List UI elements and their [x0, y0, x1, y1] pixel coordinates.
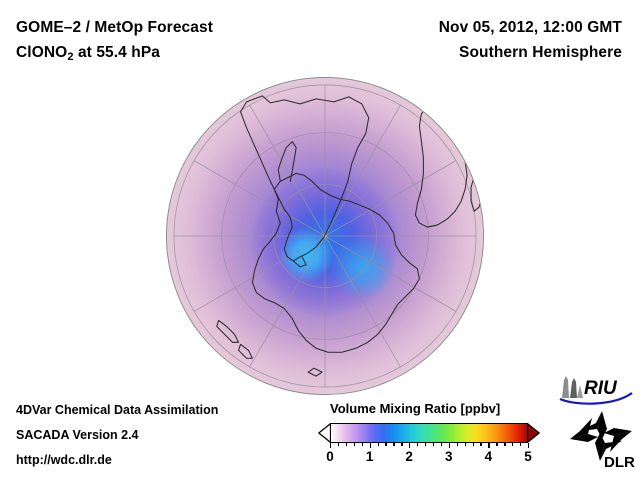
- colorbar-tick-label: 4: [485, 449, 493, 464]
- credit-line-method: 4DVar Chemical Data Assimilation: [16, 403, 218, 417]
- colorbar-title: Volume Mixing Ratio [ppbv]: [330, 401, 500, 416]
- colorbar-minor-tick: [385, 443, 386, 446]
- colorbar-minor-tick: [401, 443, 402, 446]
- colorbar-minor-tick: [441, 443, 442, 446]
- globe-map: [166, 77, 484, 395]
- colorbar-minor-tick: [520, 443, 521, 446]
- colorbar-minor-tick: [480, 443, 481, 446]
- riu-wordmark: RIU: [584, 378, 618, 399]
- dlr-wordmark: DLR: [604, 454, 635, 471]
- globe-shading: [167, 78, 483, 394]
- species-pressure-level: at 55.4 hPa: [74, 44, 161, 61]
- timestamp-label: Nov 05, 2012, 12:00 GMT: [439, 19, 622, 37]
- colorbar: 012345: [318, 423, 540, 443]
- colorbar-major-tick: [528, 443, 529, 448]
- species-formula-prefix: ClONO: [16, 44, 67, 61]
- page-title-species: ClONO2 at 55.4 hPa: [16, 44, 160, 63]
- colorbar-minor-tick: [504, 443, 505, 446]
- colorbar-tick-label: 1: [366, 449, 374, 464]
- dlr-logo: DLR: [566, 409, 640, 471]
- riu-spires-icon: [562, 376, 583, 398]
- colorbar-minor-tick: [378, 443, 379, 446]
- page-title-instrument: GOME–2 / MetOp Forecast: [16, 19, 213, 37]
- colorbar-minor-tick: [346, 443, 347, 446]
- colorbar-major-tick: [449, 443, 450, 448]
- colorbar-gradient: [330, 423, 528, 443]
- colorbar-tick-label: 3: [445, 449, 453, 464]
- colorbar-minor-tick: [354, 443, 355, 446]
- colorbar-major-tick: [330, 443, 331, 448]
- credit-line-url: http://wdc.dlr.de: [16, 453, 112, 467]
- globe-disc: [166, 77, 484, 395]
- colorbar-minor-tick: [393, 443, 394, 446]
- colorbar-tick-label: 5: [524, 449, 532, 464]
- colorbar-major-tick: [409, 443, 410, 448]
- colorbar-tick-label: 0: [326, 449, 334, 464]
- colorbar-minor-tick: [417, 443, 418, 446]
- colorbar-minor-tick: [496, 443, 497, 446]
- colorbar-major-tick: [370, 443, 371, 448]
- riu-logo: RIU: [556, 372, 636, 406]
- colorbar-minor-tick: [433, 443, 434, 446]
- colorbar-minor-tick: [362, 443, 363, 446]
- colorbar-tick-label: 2: [405, 449, 413, 464]
- colorbar-minor-tick: [473, 443, 474, 446]
- colorbar-minor-tick: [338, 443, 339, 446]
- colorbar-minor-tick: [425, 443, 426, 446]
- credit-line-version: SACADA Version 2.4: [16, 428, 139, 442]
- colorbar-major-tick: [488, 443, 489, 448]
- colorbar-minor-tick: [457, 443, 458, 446]
- region-label: Southern Hemisphere: [459, 44, 622, 62]
- colorbar-minor-tick: [465, 443, 466, 446]
- colorbar-minor-tick: [512, 443, 513, 446]
